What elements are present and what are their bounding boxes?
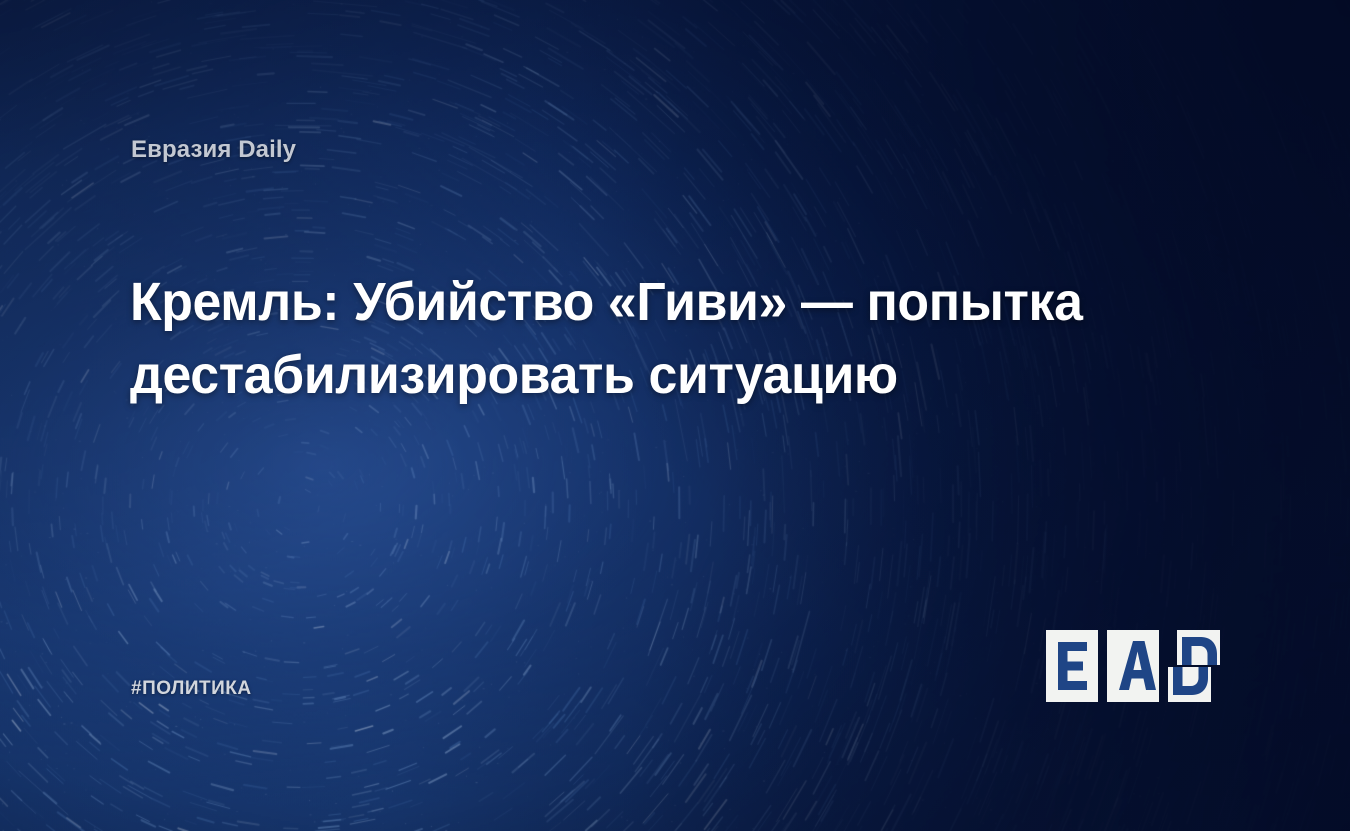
logo-glyph-e <box>1058 642 1087 690</box>
article-headline: Кремль: Убийство «Гиви» — попытка дестаб… <box>130 266 1090 413</box>
ead-logo <box>1046 630 1220 702</box>
card-content: Евразия Daily Кремль: Убийство «Гиви» — … <box>0 0 1350 831</box>
category-hashtag: #ПОЛИТИКА <box>131 678 252 700</box>
news-card: Евразия Daily Кремль: Убийство «Гиви» — … <box>0 0 1350 831</box>
ead-logo-icon <box>1046 630 1220 702</box>
brand-wordmark: Евразия Daily <box>131 136 296 164</box>
